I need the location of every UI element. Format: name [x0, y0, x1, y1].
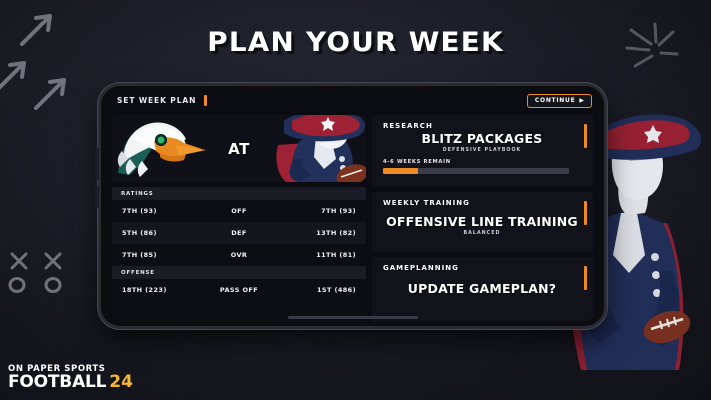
rating-home-value: 13TH (82): [279, 229, 356, 237]
phone-volume-up-button: [95, 148, 99, 180]
continue-button-label: CONTINUE: [535, 97, 575, 104]
chalk-arrow-icon: [0, 55, 34, 95]
home-indicator: [288, 316, 418, 319]
table-row: 5TH (86) DEF 13TH (82): [112, 222, 366, 244]
brand-logo: ON PAPER SPORTS FOOTBALL 24: [8, 364, 133, 392]
eagle-logo: [114, 115, 210, 182]
page-title: PLAN YOUR WEEK: [0, 27, 711, 58]
research-subtitle: DEFENSIVE PLAYBOOK: [383, 148, 581, 153]
phone-volume-down-button: [95, 186, 99, 208]
rating-category: OFF: [199, 207, 279, 215]
research-title: BLITZ PACKAGES: [383, 131, 581, 146]
research-card[interactable]: RESEARCH BLITZ PACKAGES DEFENSIVE PLAYBO…: [372, 115, 593, 187]
screen-title: SET WEEK PLAN: [117, 96, 196, 105]
rating-category: PASS OFF: [199, 286, 279, 294]
patriot-logo: [272, 115, 366, 182]
chalk-x-icon: [8, 250, 30, 272]
matchup-banner[interactable]: AT: [112, 115, 366, 182]
ratings-section-header: RATINGS: [112, 187, 366, 200]
gameplanning-title: UPDATE GAMEPLAN?: [383, 281, 581, 296]
rating-away-value: 5TH (86): [122, 229, 199, 237]
weekly-training-card[interactable]: WEEKLY TRAINING OFFENSIVE LINE TRAINING …: [372, 192, 593, 252]
chalk-o-icon: [6, 275, 28, 295]
ratings-panel: RATINGS 7TH (93) OFF 7TH (93) 5TH (86) D…: [112, 187, 366, 322]
rating-home-value: 7TH (93): [279, 207, 356, 215]
training-title: OFFENSIVE LINE TRAINING: [383, 214, 581, 229]
phone-mockup: SET WEEK PLAN CONTINUE ▶: [98, 83, 607, 329]
phone-screen: SET WEEK PLAN CONTINUE ▶: [106, 90, 599, 322]
chalk-x-icon: [42, 250, 64, 272]
research-progress-fill: [383, 168, 418, 174]
table-row: 7TH (93) OFF 7TH (93): [112, 200, 366, 222]
table-row: 18TH (223) PASS OFF 1ST (486): [112, 279, 366, 301]
brand-name: FOOTBALL: [8, 372, 106, 392]
card-accent-bar: [584, 201, 588, 225]
rating-home-value: 1ST (486): [279, 286, 356, 294]
research-kicker: RESEARCH: [383, 122, 581, 130]
training-subtitle: BALANCED: [383, 231, 581, 236]
research-weeks-remaining: 4-6 WEEKS REMAIN: [383, 159, 581, 165]
brand-title-row: FOOTBALL 24: [8, 372, 133, 392]
rating-category: DEF: [199, 229, 279, 237]
gameplanning-kicker: GAMEPLANNING: [383, 264, 581, 272]
training-kicker: WEEKLY TRAINING: [383, 199, 581, 207]
offense-section-header: OFFENSE: [112, 266, 366, 279]
gameplanning-card[interactable]: GAMEPLANNING UPDATE GAMEPLAN?: [372, 257, 593, 322]
left-column: AT: [112, 115, 366, 322]
app-body: AT: [106, 111, 599, 322]
at-label: AT: [228, 140, 250, 158]
rating-home-value: 11TH (81): [279, 251, 356, 259]
table-row: 7TH (85) OVR 11TH (81): [112, 244, 366, 266]
research-progress-bar: [383, 168, 569, 174]
rating-away-value: 18TH (223): [122, 286, 199, 294]
brand-year: 24: [109, 372, 133, 392]
chalk-arrow-icon: [32, 72, 74, 112]
topbar-accent-bar: [204, 95, 207, 106]
rating-away-value: 7TH (93): [122, 207, 199, 215]
card-accent-bar: [584, 124, 588, 148]
app-topbar: SET WEEK PLAN CONTINUE ▶: [106, 90, 599, 111]
rating-category: OVR: [199, 251, 279, 259]
card-accent-bar: [584, 266, 588, 290]
chalk-o-icon: [42, 275, 64, 295]
rating-away-value: 7TH (85): [122, 251, 199, 259]
chevron-right-icon: ▶: [579, 98, 584, 104]
right-column: RESEARCH BLITZ PACKAGES DEFENSIVE PLAYBO…: [372, 115, 593, 322]
continue-button[interactable]: CONTINUE ▶: [527, 94, 592, 108]
